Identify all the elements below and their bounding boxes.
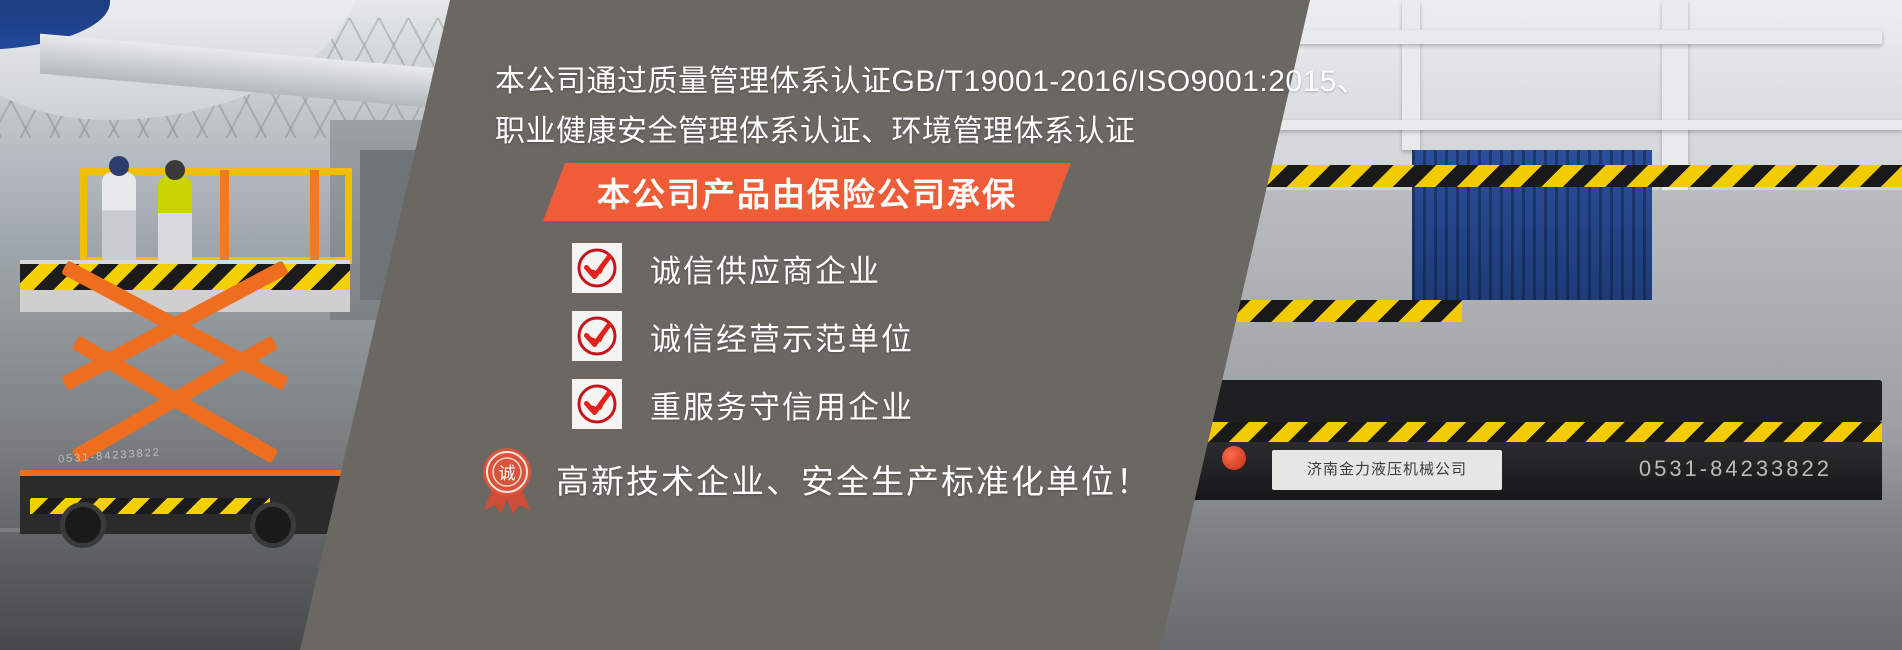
insurance-ribbon-text: 本公司产品由保险公司承保 (543, 163, 1071, 221)
lift-wheel-right (250, 502, 296, 548)
promo-banner: 0531-84233822 济南金力液压机械公司 0531-84233822 (0, 0, 1902, 650)
worker-green-head (165, 160, 185, 180)
check-circle-icon (572, 243, 622, 293)
cart-phone-code: 0531-84233822 (1639, 456, 1832, 482)
certification-line-1: 本公司通过质量管理体系认证GB/T19001-2016/ISO9001:2015… (495, 56, 1367, 100)
scissor-mechanism (50, 310, 320, 470)
checklist-item-2-label: 诚信经营示范单位 (650, 314, 914, 359)
scissor-lift: 0531-84233822 (10, 150, 340, 570)
medal-item-label: 高新技术企业、安全生产标准化单位！ (556, 455, 1151, 503)
worker-blue-head (109, 156, 129, 176)
medal-icon-character: 诚 (499, 464, 516, 483)
checklist-item-2: 诚信经营示范单位 (572, 311, 914, 361)
check-circle-icon (572, 311, 622, 361)
worker-blue (102, 172, 136, 264)
checklist-item-1: 诚信供应商企业 (572, 243, 881, 293)
check-circle-icon (572, 379, 622, 429)
checklist-item-1-label: 诚信供应商企业 (650, 246, 881, 291)
medal-ribbon-icon: 诚 (468, 440, 546, 518)
insurance-ribbon: 本公司产品由保险公司承保 (543, 163, 1071, 221)
lift-wheel-left (60, 502, 106, 548)
medal-item: 诚 高新技术企业、安全生产标准化单位！ (468, 440, 1151, 518)
worker-green (158, 176, 192, 268)
checklist-item-3-label: 重服务守信用企业 (650, 382, 914, 427)
lift-post-2 (220, 170, 229, 262)
checklist-item-3: 重服务守信用企业 (572, 379, 914, 429)
banner-content: 本公司通过质量管理体系认证GB/T19001-2016/ISO9001:2015… (300, 0, 1310, 650)
certification-line-2: 职业健康安全管理体系认证、环境管理体系认证 (495, 106, 1136, 150)
